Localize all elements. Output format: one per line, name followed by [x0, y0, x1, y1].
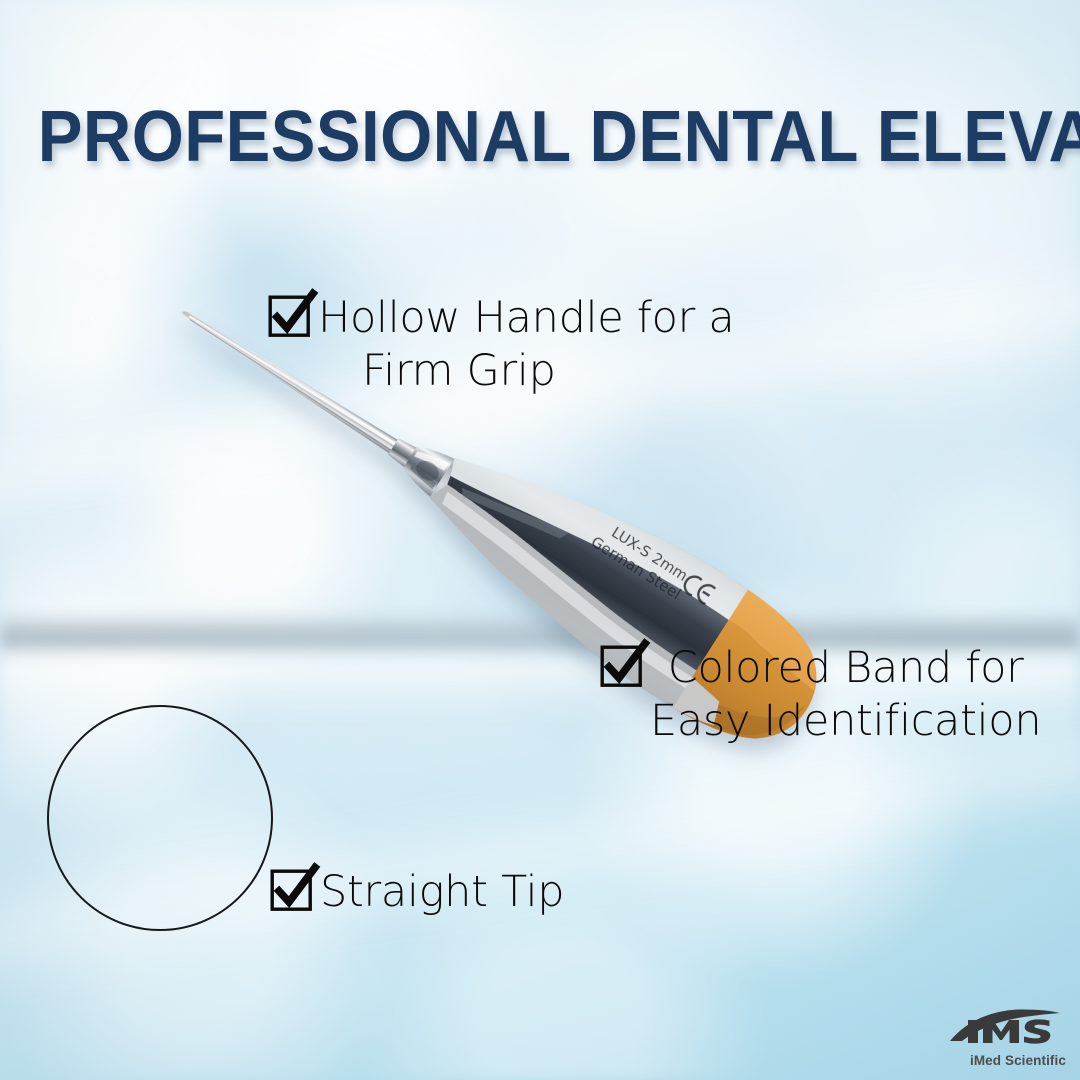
feature-label-line2: Firm Grip	[318, 345, 734, 398]
feature-label: Hollow Handle for a Firm Grip	[318, 292, 734, 398]
feature-label: Colored Band for Easy Identification	[650, 642, 1041, 748]
brand-logo: iMed Scientific	[948, 1008, 1066, 1068]
feature-label-line1: Colored Band for	[668, 643, 1024, 693]
feature-label-line1: Straight Tip	[320, 867, 564, 917]
feature-label-line2: Easy Identification	[650, 695, 1041, 748]
feature-label-line1: Hollow Handle for a	[318, 293, 734, 343]
checkbox-checked-icon	[270, 866, 316, 912]
checkbox-checked-icon	[268, 292, 314, 338]
ims-swoosh-icon	[948, 1008, 1066, 1044]
feature-hollow-handle: Hollow Handle for a Firm Grip	[268, 292, 734, 398]
tip-highlight-circle	[47, 705, 273, 931]
page-title: PROFESSIONAL DENTAL ELEVATORS	[38, 100, 1042, 174]
feature-colored-band: Colored Band for Easy Identification	[600, 642, 1041, 748]
ims-wordmark: iMed Scientific	[970, 1053, 1066, 1068]
feature-straight-tip: Straight Tip	[270, 866, 564, 919]
checkbox-checked-icon	[600, 642, 646, 688]
ims-logo-mark	[948, 1008, 1066, 1042]
feature-label: Straight Tip	[320, 866, 564, 919]
infographic-canvas: PROFESSIONAL DENTAL ELEVATORS	[0, 0, 1080, 1080]
